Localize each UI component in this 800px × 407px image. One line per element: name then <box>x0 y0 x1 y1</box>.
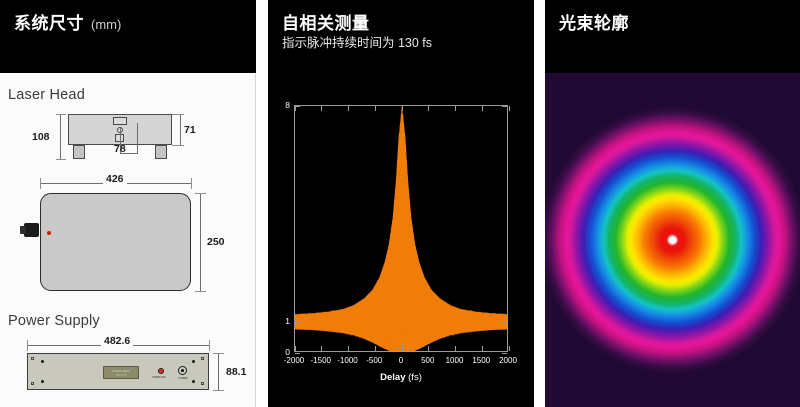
autocorrelation-title: 自相关测量 <box>282 9 370 34</box>
x-axis-title-text: Delay <box>380 372 405 383</box>
power-key-switch[interactable] <box>178 366 187 375</box>
dimensions-body: Laser Head 108 71 78 <box>0 73 256 407</box>
autocorrelation-trace-layer <box>295 106 507 351</box>
dimensions-header: 系统尺寸(mm) <box>0 0 256 73</box>
dimtick-108-top <box>56 114 66 115</box>
laser-head-foot-right <box>155 145 167 159</box>
rack-ear-hole-tr <box>201 357 204 360</box>
dimline-108-vertical <box>60 114 61 159</box>
dimtick-426-right <box>191 178 192 189</box>
beam-profile-image <box>545 73 800 407</box>
rack-screw-br <box>192 380 195 383</box>
x-tick-0 <box>295 346 296 351</box>
x-tick-5 <box>428 106 429 111</box>
y-tick-0 <box>295 353 300 354</box>
autocorrelation-plot-area <box>294 105 508 352</box>
y-tick-2 <box>295 106 300 107</box>
x-tick-8 <box>509 346 510 351</box>
x-tick-7 <box>482 106 483 111</box>
dimtick-250-top <box>195 193 206 194</box>
y-tick-1 <box>295 322 300 323</box>
autocorrelation-header: 自相关测量 指示脉冲持续时间为 130 fs <box>268 0 534 73</box>
x-tick-1 <box>321 106 322 111</box>
rack-ear-hole-tl <box>31 357 34 360</box>
dimline-881-vertical <box>218 353 219 390</box>
interlock-led-label: INTERLOCK <box>146 376 172 379</box>
dimtick-426-left <box>40 178 41 189</box>
dimensions-title-unit: (mm) <box>91 17 121 32</box>
dimtick-4826-left <box>27 340 28 351</box>
rack-ear-hole-bl <box>31 382 34 385</box>
y-tick-1 <box>502 322 507 323</box>
dimensions-title: 系统尺寸(mm) <box>14 9 121 34</box>
x-tick-3 <box>375 346 376 351</box>
x-tick-4 <box>402 106 403 111</box>
x-tick-label-8: 2000 <box>486 356 530 365</box>
rack-ear-hole-br <box>201 382 204 385</box>
beam-profile-title: 光束轮廓 <box>559 9 629 34</box>
x-tick-3 <box>375 106 376 111</box>
power-supply-chassis: SYSTEM READY 80.0 W INTERLOCK POWER <box>27 353 209 390</box>
autocorrelation-trace-svg <box>295 106 507 351</box>
y-tick-0 <box>502 353 507 354</box>
dim-value-78: 78 <box>114 143 126 155</box>
dimtick-71-bottom <box>172 145 184 146</box>
x-tick-4 <box>402 346 403 351</box>
dim-value-108: 108 <box>32 131 50 143</box>
autocorrelation-subtitle: 指示脉冲持续时间为 130 fs <box>282 32 432 51</box>
y-tick-2 <box>502 106 507 107</box>
power-supply-label: Power Supply <box>8 313 100 329</box>
laser-head-top-body <box>40 193 191 291</box>
power-supply-display[interactable]: SYSTEM READY 80.0 W <box>103 366 139 379</box>
dimtick-108-bottom <box>56 159 66 160</box>
dimtick-881-top <box>213 353 224 354</box>
dimensions-title-text: 系统尺寸 <box>14 14 84 33</box>
dimline-78-ref-right <box>137 123 138 154</box>
dimline-250-vertical <box>200 193 201 291</box>
x-axis-title-unit: (fs) <box>408 372 422 383</box>
y-tick-label-1: 1 <box>270 316 290 326</box>
x-tick-8 <box>509 106 510 111</box>
x-tick-2 <box>348 346 349 351</box>
rack-screw-tr <box>192 360 195 363</box>
autocorrelation-trace-path <box>295 106 507 351</box>
x-tick-7 <box>482 346 483 351</box>
laser-head-label: Laser Head <box>8 87 85 103</box>
figure-root: 系统尺寸(mm) Laser Head 108 71 <box>0 0 800 407</box>
panel-autocorrelation: 自相关测量 指示脉冲持续时间为 130 fs -2000-1500-1000-5… <box>268 0 534 407</box>
power-supply-display-line2: 80.0 W <box>104 374 138 378</box>
dimtick-881-bottom <box>213 390 224 391</box>
x-tick-2 <box>348 106 349 111</box>
dimline-71-vertical <box>180 114 181 145</box>
laser-head-connector-nut <box>20 226 26 234</box>
rack-screw-bl <box>41 380 44 383</box>
interlock-led <box>158 368 164 374</box>
x-tick-0 <box>295 106 296 111</box>
dim-value-71: 71 <box>184 124 196 136</box>
dim-value-250: 250 <box>207 236 225 248</box>
dimtick-71-top <box>172 114 184 115</box>
panel-system-dimensions: 系统尺寸(mm) Laser Head 108 71 <box>0 0 256 407</box>
beam-profile-header: 光束轮廓 <box>545 0 800 73</box>
x-tick-6 <box>455 346 456 351</box>
dim-value-482-6: 482.6 <box>101 335 133 347</box>
y-tick-label-2: 8 <box>270 100 290 110</box>
laser-head-fiber-connector <box>24 223 39 237</box>
panel-beam-profile: 光束轮廓 <box>545 0 800 407</box>
laser-head-front-connector-rect <box>113 117 127 125</box>
rack-screw-tl <box>41 360 44 363</box>
y-tick-label-0: 0 <box>270 347 290 357</box>
laser-head-foot-left <box>73 145 85 159</box>
laser-head-status-led <box>47 231 51 235</box>
x-tick-1 <box>321 346 322 351</box>
dimtick-250-bottom <box>195 291 206 292</box>
dim-value-426: 426 <box>103 173 127 185</box>
x-tick-6 <box>455 106 456 111</box>
dim-value-88-1: 88.1 <box>226 366 246 378</box>
dimtick-4826-right <box>209 340 210 351</box>
x-tick-5 <box>428 346 429 351</box>
x-axis-title: Delay (fs) <box>268 372 534 383</box>
